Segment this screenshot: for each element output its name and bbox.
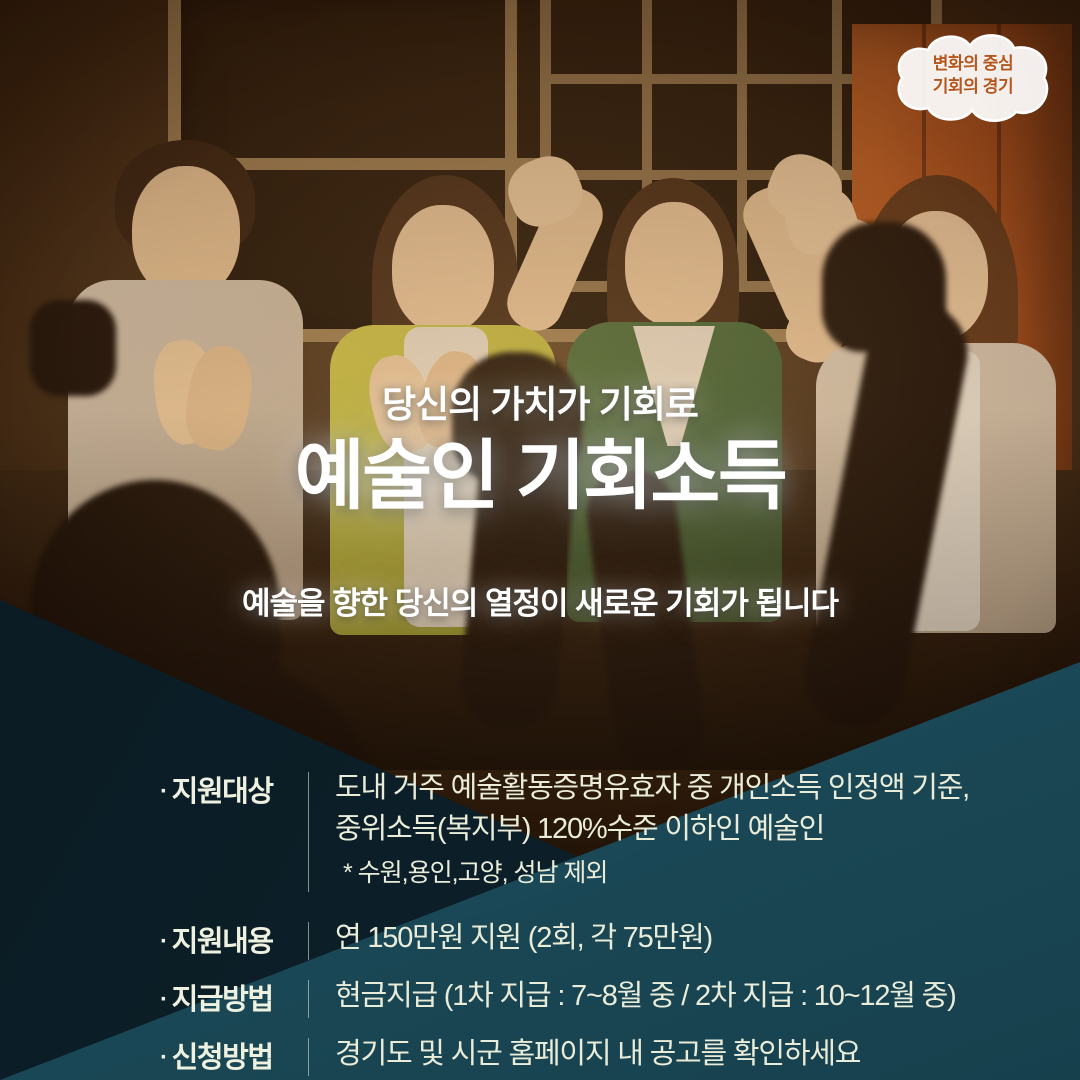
info-row: ·지원대상 도내 거주 예술활동증명유효자 중 개인소득 인정액 기준, 중위소… bbox=[160, 768, 1040, 892]
info-label-text: 신청방법 bbox=[172, 1042, 273, 1074]
brand-badge: 변화의 중심 기회의 경기 bbox=[888, 28, 1058, 124]
tagline-text: 예술을 향한 당신의 열정이 새로운 기회가 됩니다 bbox=[0, 578, 1080, 623]
info-label-text: 지원대상 bbox=[172, 776, 273, 808]
info-label-text: 지급방법 bbox=[172, 984, 273, 1016]
label-value-divider bbox=[308, 1038, 309, 1076]
info-row-value: 경기도 및 시군 홈페이지 내 공고를 확인하세요 bbox=[335, 1034, 1040, 1075]
headline-block: 당신의 가치가 기회로 예술인 기회소득 bbox=[0, 386, 1080, 518]
label-value-divider bbox=[308, 922, 309, 960]
badge-line-2: 기회의 경기 bbox=[933, 76, 1014, 99]
info-row: ·지급방법 현금지급 (1차 지급 : 7~8월 중 / 2차 지급 : 10~… bbox=[160, 976, 1040, 1018]
label-value-divider bbox=[308, 980, 309, 1018]
info-row-label: ·지급방법 bbox=[160, 976, 302, 1018]
info-list: ·지원대상 도내 거주 예술활동증명유효자 중 개인소득 인정액 기준, 중위소… bbox=[160, 768, 1040, 1076]
info-value-line: 중위소득(복지부) 120%수준 이하인 예술인 bbox=[335, 809, 1040, 850]
info-value-line: 현금지급 (1차 지급 : 7~8월 중 / 2차 지급 : 10~12월 중) bbox=[335, 976, 1040, 1017]
info-value-line: 연 150만원 지원 (2회, 각 75만원) bbox=[335, 918, 1040, 959]
info-label-text: 지원내용 bbox=[172, 926, 273, 958]
bullet-icon: · bbox=[160, 778, 167, 805]
label-value-divider bbox=[308, 772, 309, 892]
info-row-label: ·지원내용 bbox=[160, 918, 302, 960]
info-value-line: 경기도 및 시군 홈페이지 내 공고를 확인하세요 bbox=[335, 1034, 1040, 1075]
info-value-line: 도내 거주 예술활동증명유효자 중 개인소득 인정액 기준, bbox=[335, 768, 1040, 809]
info-value-note: * 수원,용인,고양, 성남 제외 bbox=[335, 856, 1040, 892]
info-row-label: ·신청방법 bbox=[160, 1034, 302, 1076]
info-row: ·지원내용 연 150만원 지원 (2회, 각 75만원) bbox=[160, 918, 1040, 960]
bullet-icon: · bbox=[160, 986, 167, 1013]
page-title: 예술인 기회소득 bbox=[0, 437, 1080, 518]
bullet-icon: · bbox=[160, 1044, 167, 1071]
info-row-value: 현금지급 (1차 지급 : 7~8월 중 / 2차 지급 : 10~12월 중) bbox=[335, 976, 1040, 1017]
info-row-value: 연 150만원 지원 (2회, 각 75만원) bbox=[335, 918, 1040, 959]
info-row: ·신청방법 경기도 및 시군 홈페이지 내 공고를 확인하세요 bbox=[160, 1034, 1040, 1076]
info-row-value: 도내 거주 예술활동증명유효자 중 개인소득 인정액 기준, 중위소득(복지부)… bbox=[335, 768, 1040, 892]
badge-line-1: 변화의 중심 bbox=[933, 53, 1014, 76]
bullet-icon: · bbox=[160, 928, 167, 955]
eyebrow-text: 당신의 가치가 기회로 bbox=[0, 386, 1080, 423]
info-row-label: ·지원대상 bbox=[160, 768, 302, 810]
poster-card: 변화의 중심 기회의 경기 당신의 가치가 기회로 예술인 기회소득 예술을 향… bbox=[0, 0, 1080, 1080]
